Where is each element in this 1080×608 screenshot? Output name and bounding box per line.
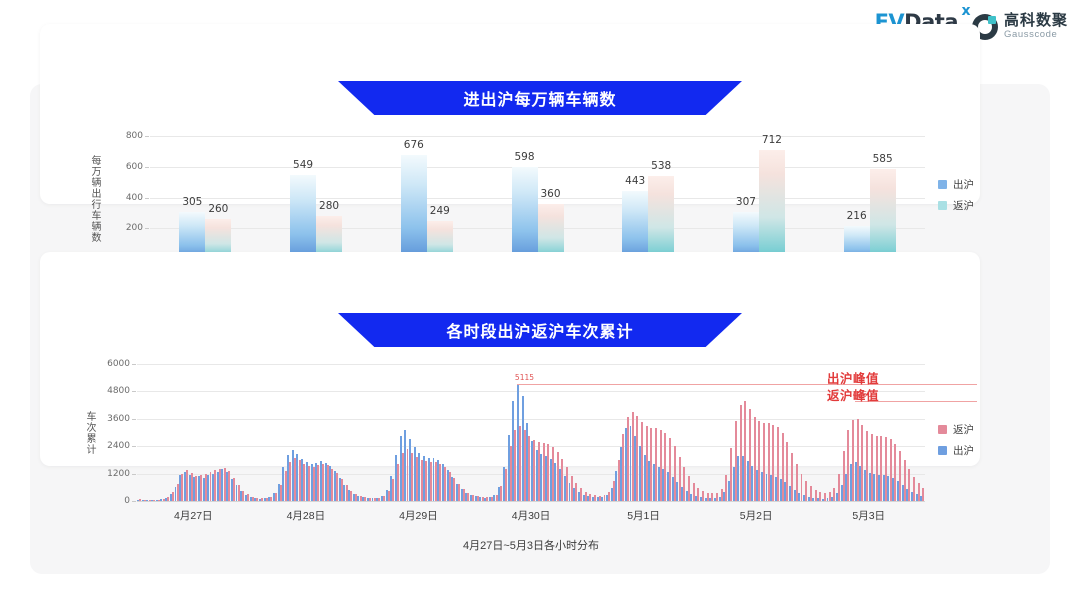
bar-出沪[interactable]: 549 (290, 175, 316, 259)
gridline (150, 136, 925, 137)
bar-出沪[interactable]: 443 (622, 191, 648, 259)
bar-value-label: 360 (540, 188, 560, 200)
y-axis-label-hourly: 车次累计 (82, 374, 97, 491)
y-axis-tick-mark (132, 474, 136, 475)
bar-返沪[interactable]: 585 (870, 169, 896, 259)
y-axis-label-vehicles: 每万辆出行车辆数 (87, 142, 102, 255)
bar-返沪[interactable]: 712 (759, 150, 785, 259)
bar-value-label: 307 (736, 196, 756, 208)
gridline (137, 364, 925, 365)
y-axis-tick-mark (132, 501, 136, 502)
bar-value-label: 598 (514, 151, 534, 163)
bar-出沪[interactable]: 676 (401, 155, 427, 259)
y-axis-tick: 400 (126, 193, 143, 203)
y-axis-tick-mark (132, 419, 136, 420)
x-axis-tick: 5月1日 (627, 508, 660, 523)
gausscode-logo-cn: 高科数聚 (1004, 13, 1068, 28)
x-axis-tick: 5月3日 (852, 508, 885, 523)
y-axis-tick: 800 (126, 131, 143, 141)
bar-group: 549280 (290, 175, 342, 259)
chart-title-banner-vehicles: 进出沪每万辆车辆数 (338, 81, 742, 115)
bar-group: 676249 (401, 155, 453, 259)
bar-value-label: 443 (625, 175, 645, 187)
gridline (137, 501, 925, 502)
y-axis-tick-mark (145, 136, 149, 137)
y-axis-tick: 200 (126, 223, 143, 233)
legend-item-返沪[interactable]: 返沪 (938, 422, 974, 437)
x-axis-tick: 4月30日 (512, 508, 551, 523)
legend-label: 出沪 (953, 443, 974, 458)
legend-item-出沪[interactable]: 出沪 (938, 443, 974, 458)
y-axis-tick-mark (145, 228, 149, 229)
x-axis-tick: 5月2日 (740, 508, 773, 523)
y-axis-tick-mark (145, 198, 149, 199)
bar-value-label: 216 (847, 210, 867, 222)
chart-title-banner-hourly: 各时段出沪返沪车次累计 (338, 313, 742, 347)
page-root: EVDatax SHANGHAI CHINA 高科数聚 Gausscode 进出… (0, 0, 1080, 608)
x-axis-tick: 4月28日 (287, 508, 326, 523)
bar-group: 307712 (733, 150, 785, 259)
bar-group: 216585 (844, 169, 896, 259)
bar-chart-vehicles: 02004006008003052604月27日5492804月28日67624… (150, 136, 925, 259)
peak-annotation-label: 出沪峰值 (827, 368, 879, 387)
y-axis-tick-mark (132, 391, 136, 392)
peak-annotation-value: 5115 (515, 373, 534, 382)
legend-hourly: 返沪出沪 (938, 422, 974, 458)
bar-value-label: 538 (651, 160, 671, 172)
bar-group: 598360 (512, 167, 564, 259)
bar-value-label: 305 (182, 196, 202, 208)
x-axis-caption: 4月27日~5月3日各小时分布 (137, 537, 925, 553)
legend-swatch (938, 201, 947, 210)
legend-label: 返沪 (953, 198, 974, 213)
y-axis-tick-mark (145, 167, 149, 168)
bar-value-label: 280 (319, 200, 339, 212)
bar-value-label: 712 (762, 134, 782, 146)
gridline (137, 419, 925, 420)
y-axis-tick: 600 (126, 162, 143, 172)
x-axis-tick: 4月29日 (399, 508, 438, 523)
y-axis-tick: 0 (124, 496, 130, 506)
gausscode-logo: 高科数聚 Gausscode (972, 13, 1068, 40)
y-axis-tick: 6000 (107, 359, 130, 369)
bar-value-label: 585 (873, 153, 893, 165)
bar-出沪[interactable]: 598 (512, 167, 538, 259)
legend-swatch (938, 446, 947, 455)
y-axis-tick: 2400 (107, 441, 130, 451)
y-axis-tick: 1200 (107, 469, 130, 479)
legend-label: 返沪 (953, 422, 974, 437)
legend-item-出沪[interactable]: 出沪 (938, 177, 974, 192)
bar-返沪[interactable]: 538 (648, 176, 674, 259)
bar-value-label: 549 (293, 159, 313, 171)
bar-value-label: 676 (404, 139, 424, 151)
bar-chart-hourly: 0120024003600480060004月27日4月28日4月29日4月30… (137, 364, 925, 501)
y-axis-tick-mark (132, 446, 136, 447)
hourly-bar-返沪 (922, 488, 924, 501)
bar-group: 443538 (622, 176, 674, 259)
bar-value-label: 260 (208, 203, 228, 215)
legend-swatch (938, 180, 947, 189)
evdata-logo-x-icon: x (961, 4, 970, 18)
y-axis-tick-mark (132, 364, 136, 365)
bar-value-label: 249 (430, 205, 450, 217)
bar-返沪[interactable]: 360 (538, 204, 564, 259)
legend-vehicles: 出沪返沪 (938, 177, 974, 213)
x-axis-tick: 4月27日 (174, 508, 213, 523)
legend-item-返沪[interactable]: 返沪 (938, 198, 974, 213)
legend-swatch (938, 425, 947, 434)
gausscode-logo-en: Gausscode (1004, 30, 1068, 40)
gausscode-logo-text: 高科数聚 Gausscode (1004, 13, 1068, 40)
y-axis-tick: 4800 (107, 386, 130, 396)
peak-annotation-line (517, 384, 977, 385)
y-axis-tick: 3600 (107, 414, 130, 424)
gridline (137, 391, 925, 392)
legend-label: 出沪 (953, 177, 974, 192)
peak-annotation-label: 返沪峰值 (827, 385, 879, 404)
